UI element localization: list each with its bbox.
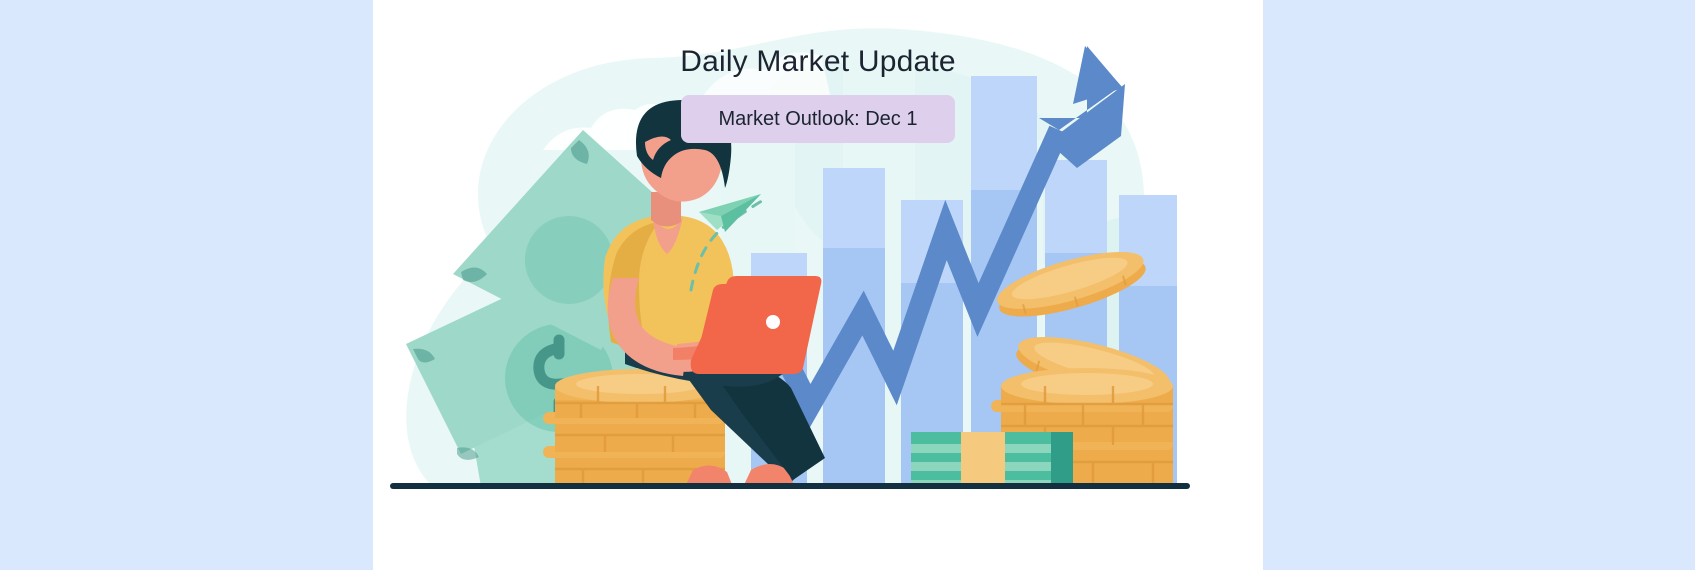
ground-baseline [390,483,1190,489]
banknote-stack [911,432,1073,487]
content-card: Daily Market Update Market Outlook: Dec … [373,0,1263,570]
page-root: Daily Market Update Market Outlook: Dec … [0,0,1695,570]
market-growth-illustration [373,0,1263,570]
